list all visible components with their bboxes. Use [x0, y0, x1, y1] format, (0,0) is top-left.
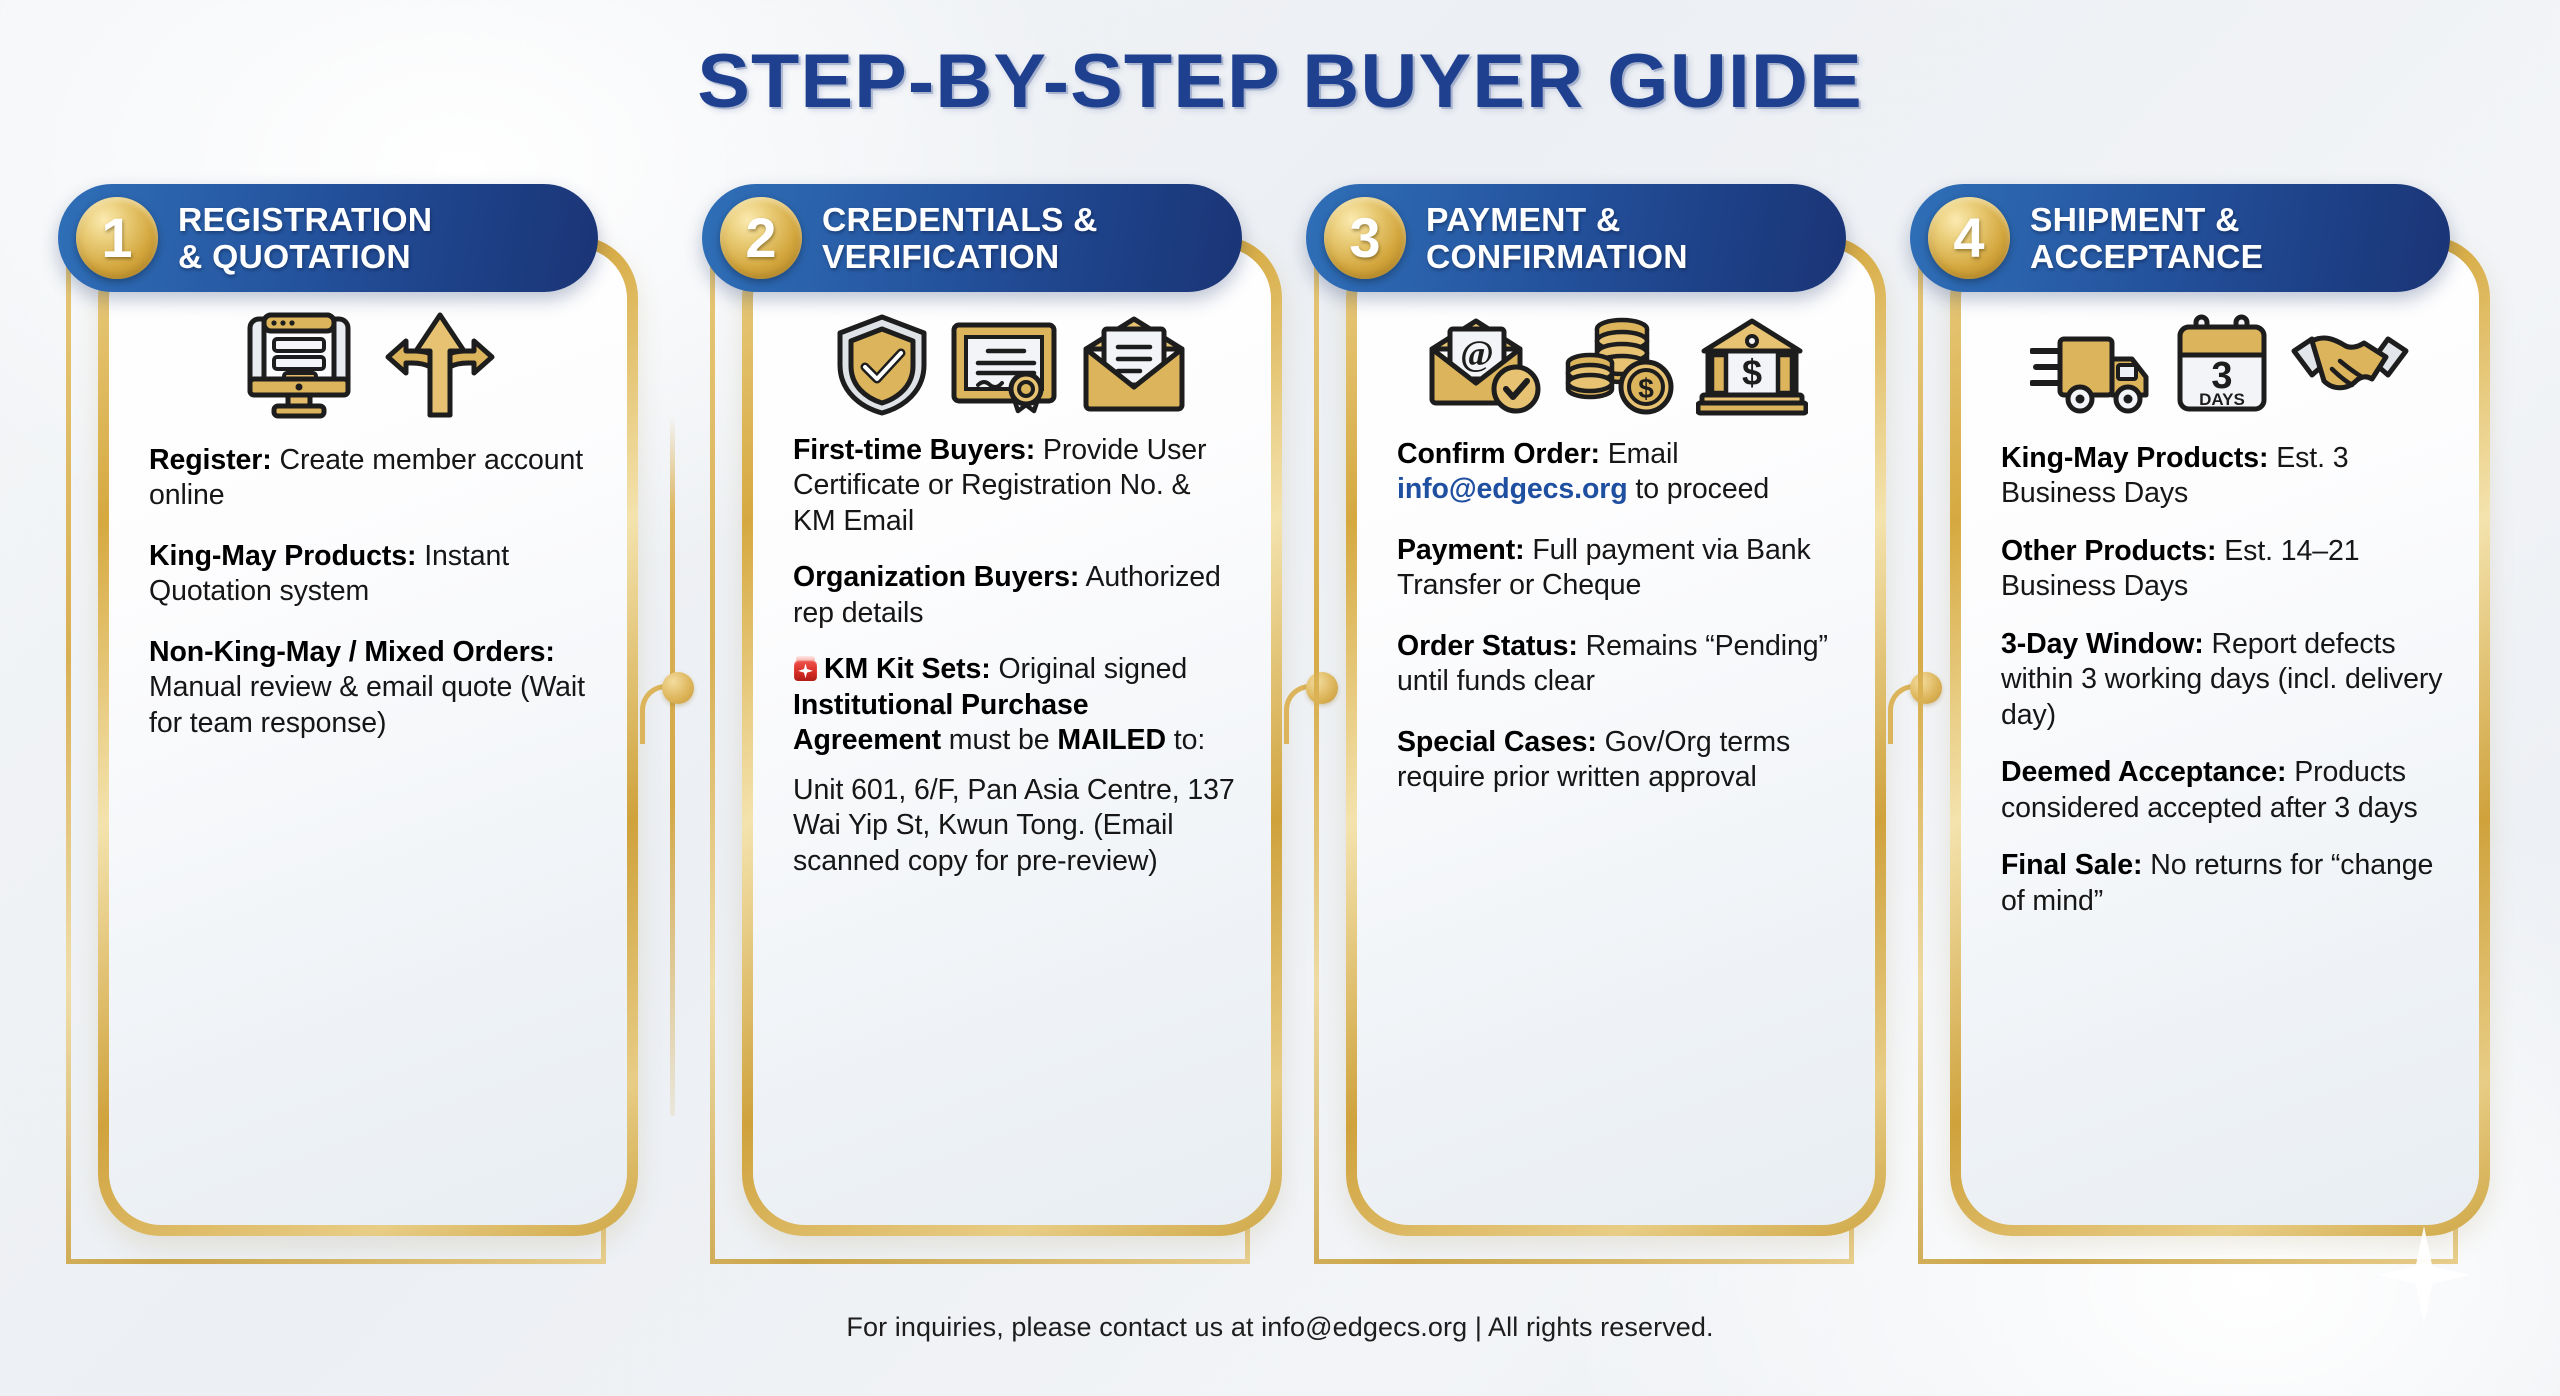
siren-icon — [793, 656, 818, 683]
step-title: CREDENTIALS & VERIFICATION — [822, 201, 1098, 276]
footer-contact: For inquiries, please contact us at info… — [0, 1312, 2560, 1343]
body-item: Other Products: Est. 14–21 Business Days — [2001, 534, 2445, 605]
step-4-body: King-May Products: Est. 3 Business Days … — [2001, 441, 2445, 919]
body-item: Non-King-May / Mixed Orders: Manual revi… — [149, 635, 593, 741]
three-way-arrow-icon — [384, 311, 496, 419]
body-item: Confirm Order: Email info@edgecs.org to … — [1397, 437, 1841, 508]
card-gold-border: First-time Buyers: Provide User Certific… — [742, 236, 1282, 1236]
card-gold-border: Register: Create member account online K… — [98, 236, 638, 1236]
step-4-icons: 3 DAYS — [1961, 305, 2479, 425]
card-surface: Register: Create member account online K… — [109, 247, 627, 1225]
step-number-badge: 3 — [1324, 197, 1406, 279]
step-card-1[interactable]: Register: Create member account online K… — [98, 236, 638, 1266]
card-surface: First-time Buyers: Provide User Certific… — [753, 247, 1271, 1225]
calendar-days-label: DAYS — [2199, 390, 2245, 409]
step-4-header[interactable]: 4 SHIPMENT & ACCEPTANCE — [1910, 184, 2450, 292]
delivery-truck-icon — [2030, 315, 2154, 415]
coin-stack-dollar-icon: $ — [1562, 313, 1678, 417]
step-title: REGISTRATION & QUOTATION — [178, 201, 432, 276]
step-2-header[interactable]: 2 CREDENTIALS & VERIFICATION — [702, 184, 1242, 292]
contact-email-link[interactable]: info@edgecs.org — [1397, 473, 1628, 505]
step-number-badge: 2 — [720, 197, 802, 279]
step-number-badge: 1 — [76, 197, 158, 279]
step-2-body: First-time Buyers: Provide User Certific… — [793, 433, 1237, 879]
step-1-header[interactable]: 1 REGISTRATION & QUOTATION — [58, 184, 598, 292]
step-1-body: Register: Create member account online K… — [149, 443, 593, 741]
body-item: King-May Products: Est. 3 Business Days — [2001, 441, 2445, 512]
body-item: Deemed Acceptance: Products considered a… — [2001, 755, 2445, 826]
open-envelope-icon — [1078, 313, 1190, 417]
step-1-icons — [109, 305, 627, 425]
certificate-seal-icon — [948, 313, 1060, 417]
step-title: SHIPMENT & ACCEPTANCE — [2030, 201, 2263, 276]
step-3-body: Confirm Order: Email info@edgecs.org to … — [1397, 437, 1841, 796]
bank-building-icon: $ — [1696, 313, 1808, 417]
svg-text:$: $ — [1742, 352, 1762, 393]
body-item: Special Cases: Gov/Org terms require pri… — [1397, 725, 1841, 796]
card-gold-border: 3 DAYS — [1950, 236, 2490, 1236]
registration-form-monitor-icon — [240, 311, 358, 419]
page-title: STEP-BY-STEP BUYER GUIDE — [0, 38, 2560, 125]
body-item: Payment: Full payment via Bank Transfer … — [1397, 533, 1841, 604]
body-item: King-May Products: Instant Quotation sys… — [149, 539, 593, 610]
body-item: First-time Buyers: Provide User Certific… — [793, 433, 1237, 539]
step-2-icons — [753, 305, 1271, 425]
body-item: KM Kit Sets: Original signed Institution… — [793, 652, 1237, 758]
calendar-3-days-icon: 3 DAYS — [2172, 313, 2272, 417]
body-item: 3-Day Window: Report defects within 3 wo… — [2001, 627, 2445, 733]
card-gold-border: @ — [1346, 236, 1886, 1236]
step-title: PAYMENT & CONFIRMATION — [1426, 201, 1688, 276]
shield-check-icon — [834, 313, 930, 417]
steps-container: Register: Create member account online K… — [0, 236, 2560, 1286]
step-card-4[interactable]: 3 DAYS — [1950, 236, 2490, 1266]
step-3-header[interactable]: 3 PAYMENT & CONFIRMATION — [1306, 184, 1846, 292]
connector-1-2 — [640, 236, 710, 1266]
step-card-3[interactable]: @ — [1346, 236, 1886, 1266]
card-surface: @ — [1357, 247, 1875, 1225]
handshake-icon — [2290, 317, 2410, 413]
email-at-check-icon: @ — [1424, 313, 1544, 417]
step-card-2[interactable]: First-time Buyers: Provide User Certific… — [742, 236, 1282, 1266]
card-surface: 3 DAYS — [1961, 247, 2479, 1225]
infographic-canvas: STEP-BY-STEP BUYER GUIDE — [0, 0, 2560, 1396]
body-item: Organization Buyers: Authorized rep deta… — [793, 560, 1237, 631]
step-number-badge: 4 — [1928, 197, 2010, 279]
body-item: Register: Create member account online — [149, 443, 593, 514]
body-item: Unit 601, 6/F, Pan Asia Centre, 137 Wai … — [793, 773, 1237, 879]
svg-text:@: @ — [1460, 333, 1494, 373]
body-item: Order Status: Remains “Pending” until fu… — [1397, 629, 1841, 700]
body-item: Final Sale: No returns for “change of mi… — [2001, 848, 2445, 919]
svg-text:$: $ — [1638, 373, 1654, 404]
step-3-icons: @ — [1357, 305, 1875, 425]
